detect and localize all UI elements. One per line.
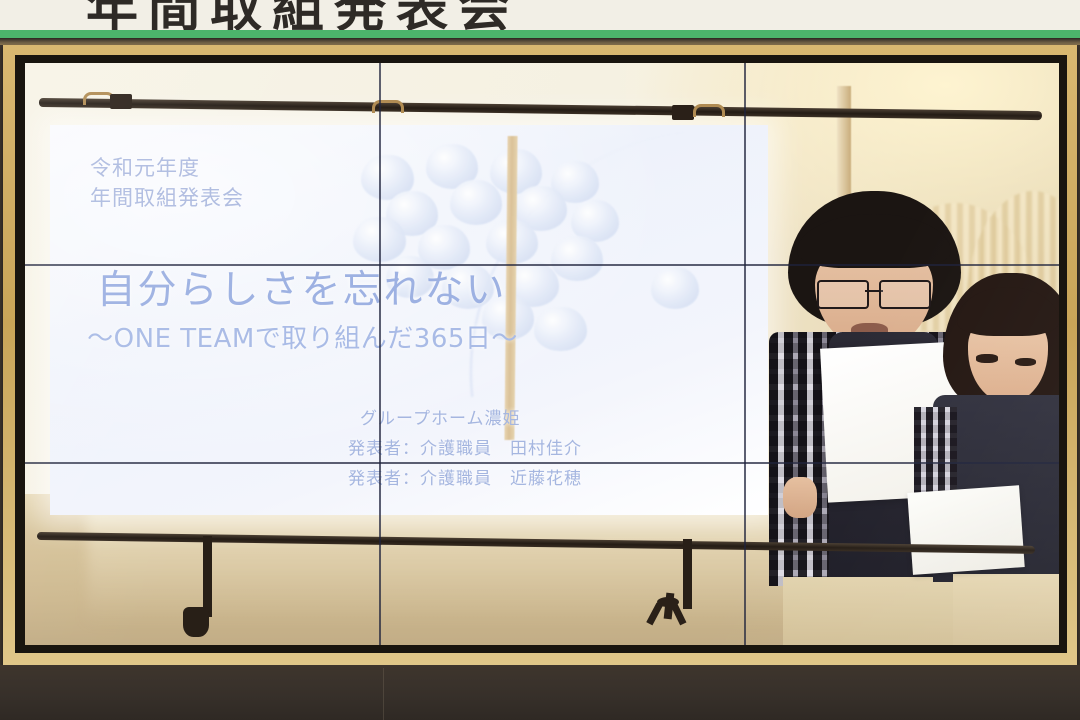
video-wall-frame: 令和元年度 年間取組発表会 自分らしさを忘れない 〜ONE TEAMで取り組んだ… [3,45,1077,665]
room-lower-wall-highlight [87,505,811,621]
video-wall-display: 令和元年度 年間取組発表会 自分らしさを忘れない 〜ONE TEAMで取り組んだ… [25,63,1059,645]
presenter-back-paper [908,485,1026,575]
banner-green-stripe [0,30,1080,38]
lower-wall [0,665,1080,720]
rail-block-1 [110,94,132,109]
rail-hook-3 [693,104,725,117]
screenshot-root: 年間取組発表会 [0,0,1080,720]
lower-wall-seam [383,668,384,720]
presenter-back [940,273,1059,645]
presenter-back-pants [953,574,1059,645]
banner-title-text: 年間取組発表会 [86,0,520,30]
rail-hook-2 [372,100,404,113]
slide-credits: グループホーム濃姫 発表者：介護職員 田村佳介 発表者：介護職員 近藤花穂 [348,405,582,494]
microphone-stand-post [203,536,212,617]
microphone-stand-foot [183,607,209,637]
credit-organization: グループホーム濃姫 [360,405,582,435]
slide-header: 令和元年度 年間取組発表会 [90,154,244,214]
slide-header-line-2: 年間取組発表会 [90,184,244,214]
presenter-back-eye-left [976,354,998,362]
rail-block-2 [672,105,694,120]
projection-screen: 令和元年度 年間取組発表会 自分らしさを忘れない 〜ONE TEAMで取り組んだ… [50,125,769,515]
tripod-stand-legs [647,593,693,645]
presenter-back-eye-right [1015,358,1037,366]
top-banner: 年間取組発表会 [0,0,1080,30]
banner-shadow-strip [0,38,1080,45]
glasses-icon [817,280,931,305]
slide-main-title: 自分らしさを忘れない [97,259,507,315]
video-wall-inner-bezel: 令和元年度 年間取組発表会 自分らしさを忘れない 〜ONE TEAMで取り組んだ… [15,55,1067,653]
credit-presenter-1: 発表者：介護職員 田村佳介 [348,435,582,465]
slide-header-line-1: 令和元年度 [90,154,244,184]
projected-scene: 令和元年度 年間取組発表会 自分らしさを忘れない 〜ONE TEAMで取り組んだ… [25,63,1059,645]
credit-presenter-2: 発表者：介護職員 近藤花穂 [348,465,582,495]
presenter-front-hand-left [783,477,817,518]
slide-subtitle: 〜ONE TEAMで取り組んだ365日〜 [87,318,518,355]
